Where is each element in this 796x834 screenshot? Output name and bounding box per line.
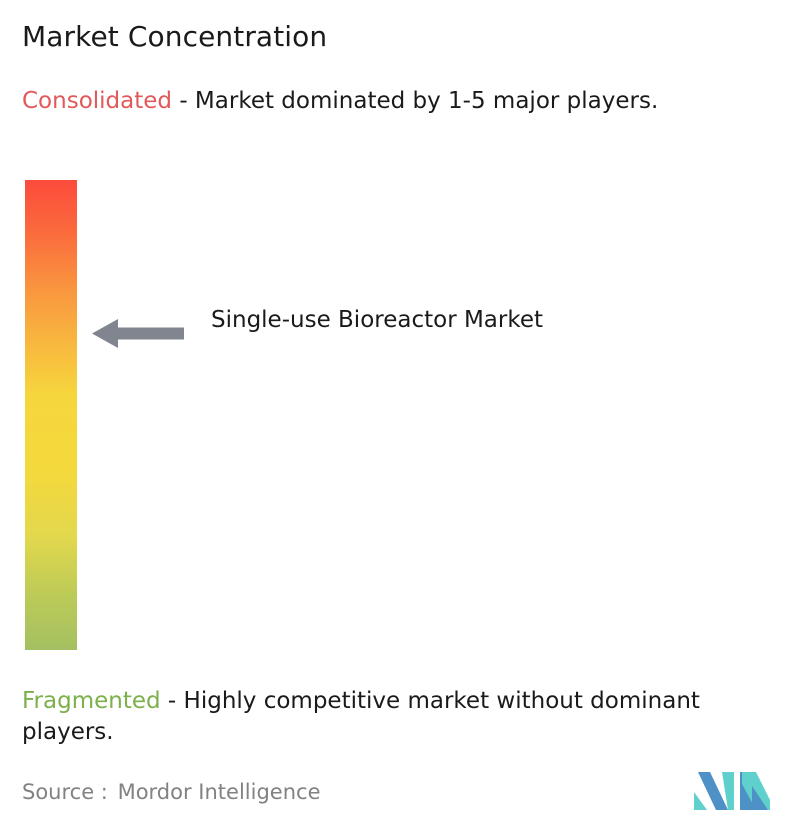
source-attribution: Source : Mordor Intelligence <box>22 780 320 804</box>
legend-consolidated-keyword: Consolidated <box>22 88 172 114</box>
market-concentration-scale-bar <box>25 180 77 650</box>
legend-fragmented-keyword: Fragmented <box>22 688 161 714</box>
legend-consolidated: Consolidated - Market dominated by 1-5 m… <box>22 86 762 117</box>
mordor-intelligence-logo <box>694 770 770 812</box>
legend-fragmented: Fragmented - Highly competitive market w… <box>22 686 782 748</box>
pointer-label: Single-use Bioreactor Market <box>211 304 611 337</box>
source-label: Source : <box>22 780 108 804</box>
legend-consolidated-description: - Market dominated by 1-5 major players. <box>172 88 658 114</box>
arrow-left-icon <box>92 318 184 349</box>
chart-canvas: Market Concentration Consolidated - Mark… <box>0 0 796 834</box>
source-value: Mordor Intelligence <box>118 780 321 804</box>
page-title: Market Concentration <box>22 20 327 53</box>
